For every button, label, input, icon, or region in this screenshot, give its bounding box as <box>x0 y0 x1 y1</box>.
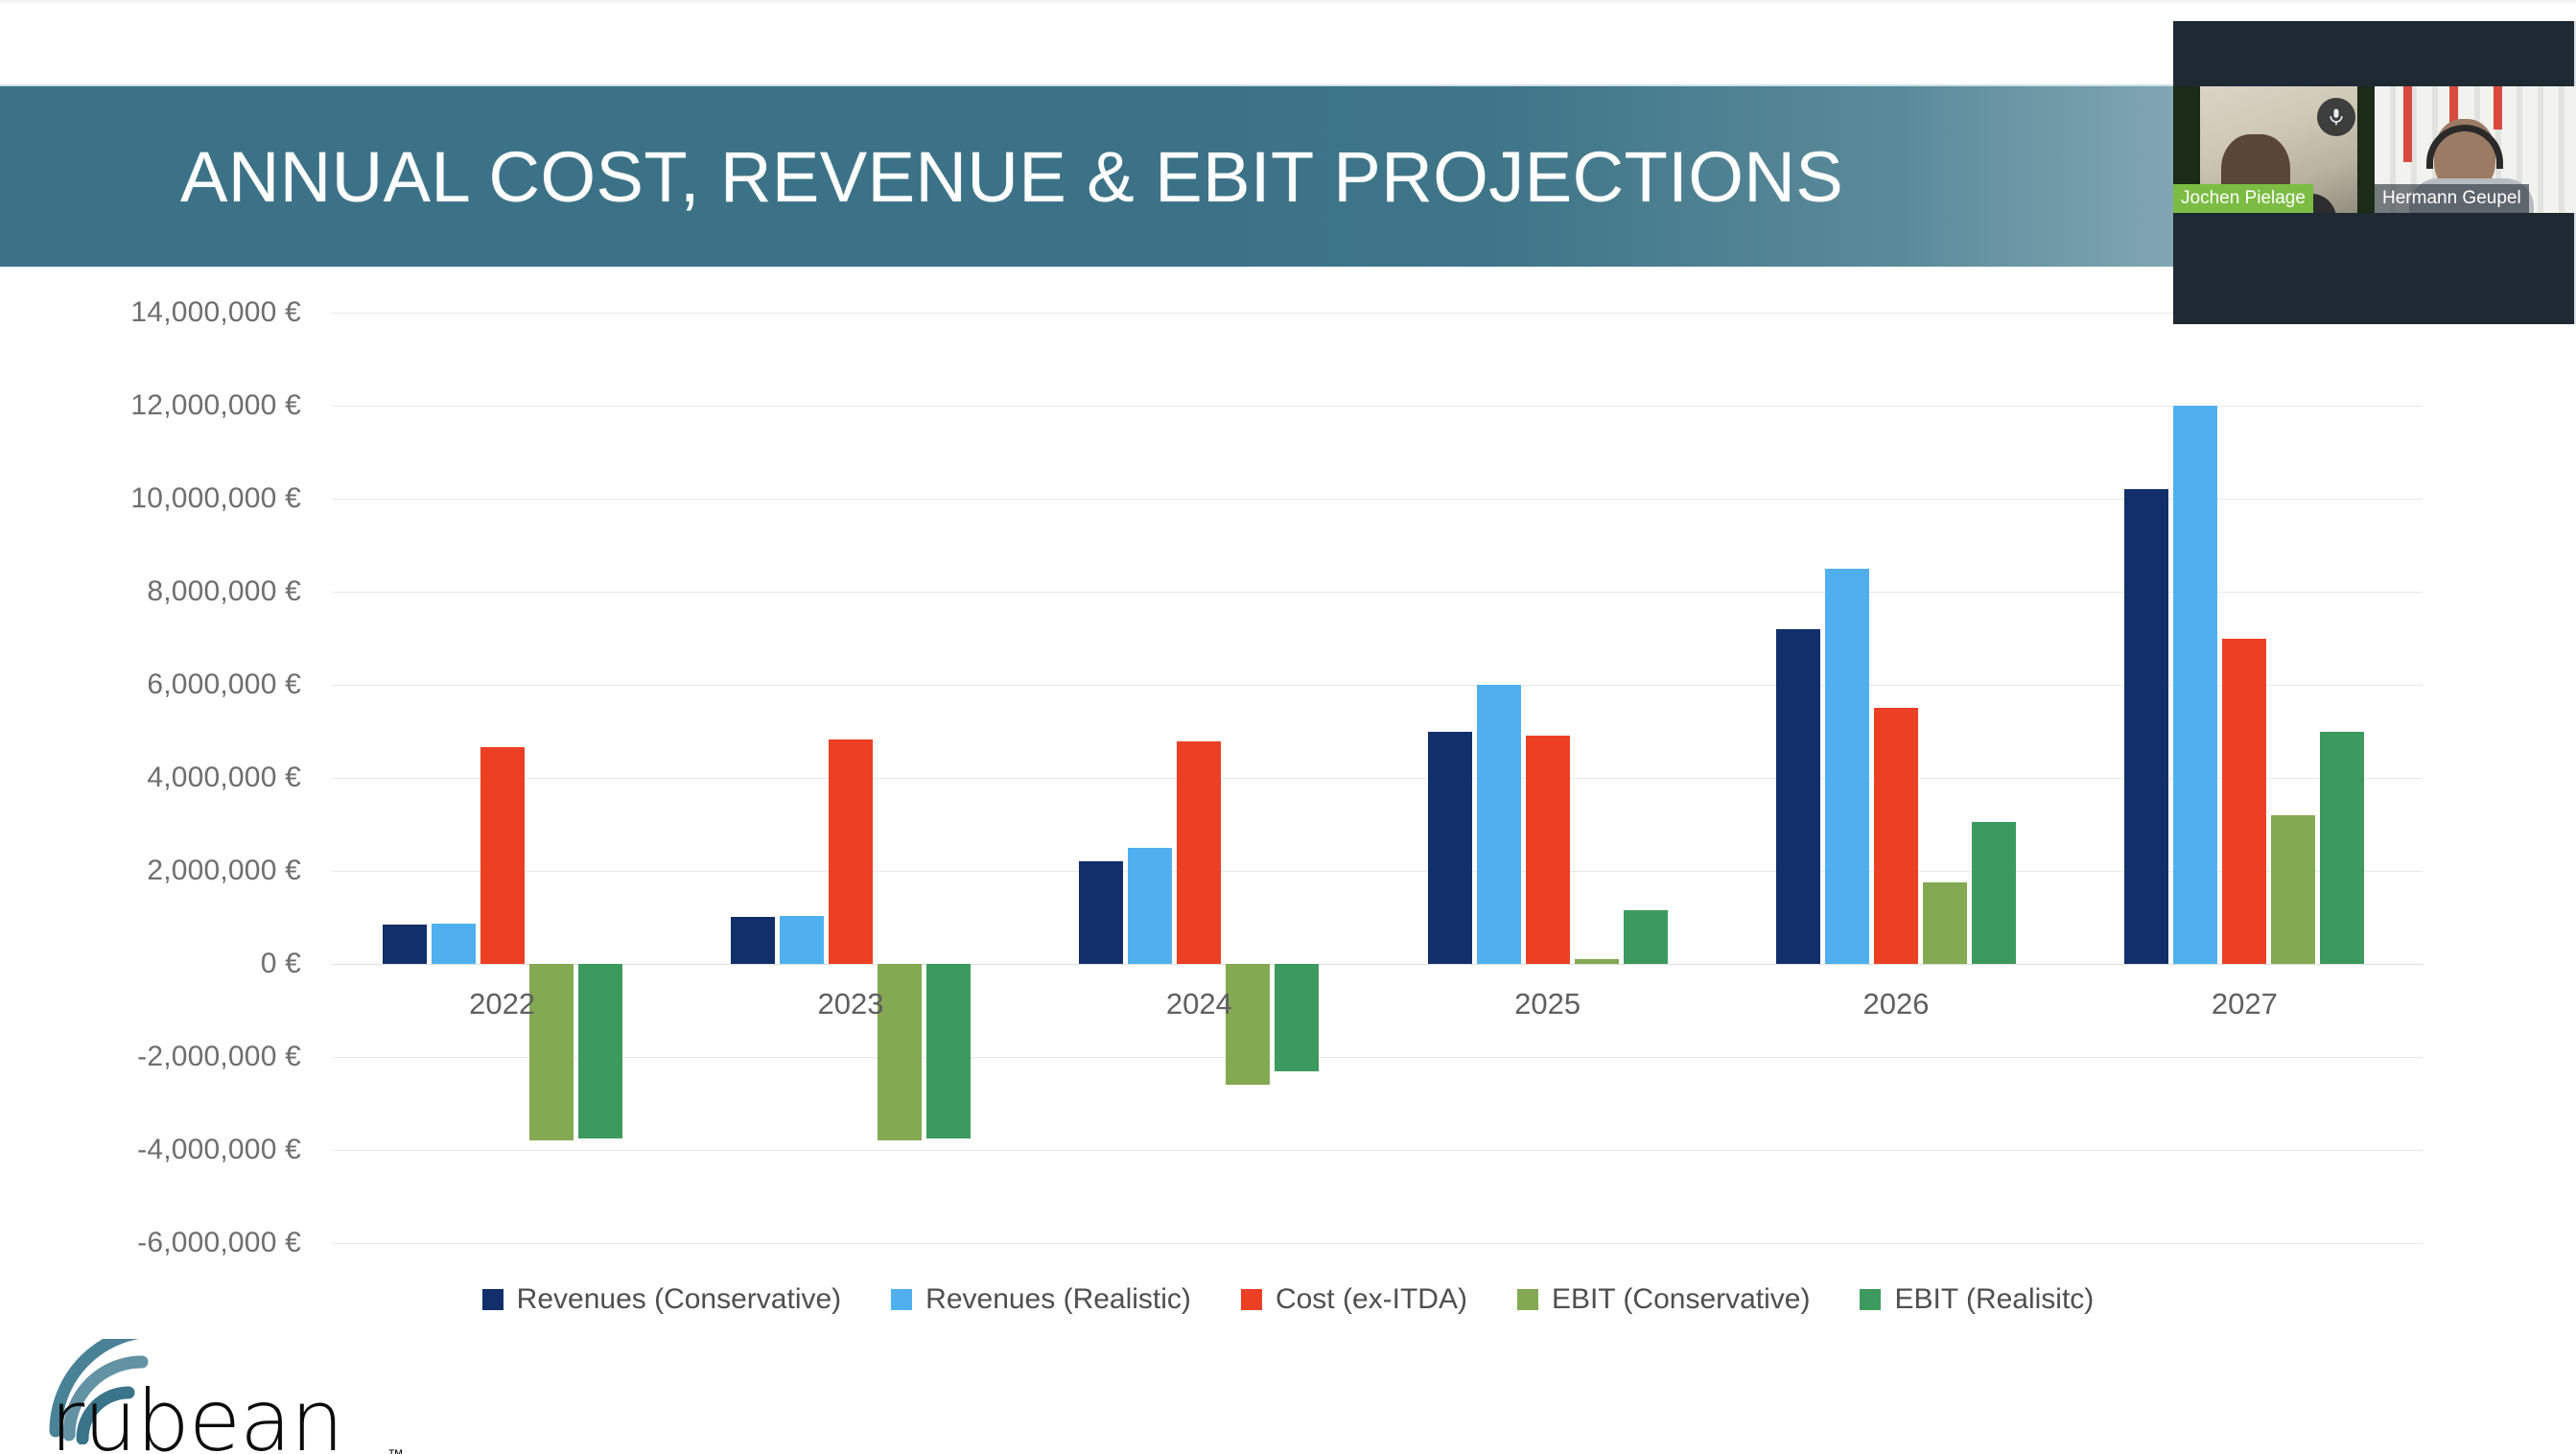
chart-bar <box>1477 685 1521 964</box>
chart-bar <box>780 916 824 964</box>
microphone-icon[interactable] <box>2317 98 2355 136</box>
chart-bar <box>1972 822 2016 964</box>
y-axis-tick-label: 0 € <box>261 948 301 980</box>
chart-bar <box>1776 629 1820 964</box>
chart-bar <box>2173 406 2217 964</box>
chart-bar <box>1428 732 1472 965</box>
participant-name-tag: Hermann Geupel <box>2375 184 2529 213</box>
chart-plot-area: 202220232024202520262027 <box>332 267 2423 1283</box>
x-axis-tick-label: 2025 <box>1514 987 1581 1021</box>
chart-bar <box>1226 964 1270 1085</box>
chart-bar <box>1177 741 1221 964</box>
legend-label: Revenues (Conservative) <box>517 1283 841 1316</box>
x-axis-tick-label: 2024 <box>1166 987 1232 1021</box>
legend-label: Cost (ex-ITDA) <box>1276 1283 1467 1316</box>
y-axis-tick-label: 12,000,000 € <box>130 389 301 422</box>
chart-bar <box>878 964 922 1140</box>
logo-wordmark: rubean <box>50 1379 343 1454</box>
y-axis-tick-label: 4,000,000 € <box>147 762 301 794</box>
video-conference-panel: Jochen Pielage Hermann Geupel <box>2173 21 2576 324</box>
x-axis-tick-label: 2026 <box>1863 987 1930 1021</box>
chart-bar <box>1575 959 1619 964</box>
chart-bar <box>731 917 775 964</box>
legend-label: Revenues (Realistic) <box>925 1283 1191 1316</box>
x-axis-tick-label: 2022 <box>469 987 535 1021</box>
y-axis-tick-label: 2,000,000 € <box>147 855 301 887</box>
chart-bar <box>432 924 476 964</box>
x-axis-tick-label: 2027 <box>2212 987 2278 1021</box>
chart-bar <box>1923 882 1967 964</box>
legend-item[interactable]: Revenues (Conservative) <box>482 1283 841 1316</box>
chart-bar <box>1526 736 1570 964</box>
chart-bar <box>529 964 574 1140</box>
y-axis-labels: 14,000,000 €12,000,000 €10,000,000 €8,00… <box>0 267 316 1283</box>
chart-bar <box>1079 861 1123 964</box>
chart-bars-layer <box>332 267 2423 1283</box>
y-axis-tick-label: 10,000,000 € <box>130 482 301 515</box>
presentation-slide: ANNUAL COST, REVENUE & EBIT PROJECTIONS … <box>0 0 2576 1454</box>
chart-bar <box>1874 708 1918 964</box>
rubean-logo: rubean ™ <box>21 1339 424 1454</box>
legend-swatch-icon <box>1860 1289 1881 1310</box>
legend-item[interactable]: EBIT (Conservative) <box>1517 1283 1811 1316</box>
legend-swatch-icon <box>1241 1289 1262 1310</box>
legend-item[interactable]: Revenues (Realistic) <box>891 1283 1191 1316</box>
chart-bar <box>2222 639 2266 965</box>
chart-bar <box>829 739 873 964</box>
x-axis-tick-label: 2023 <box>818 987 884 1021</box>
y-axis-tick-label: 14,000,000 € <box>130 296 301 329</box>
legend-swatch-icon <box>1517 1289 1538 1310</box>
chart-bar <box>926 964 971 1138</box>
chart-bar <box>1624 910 1668 964</box>
slide-footer: rubean ™ © 2024 Rubean AG – confidential… <box>0 1333 2576 1454</box>
background-stripe <box>2494 86 2502 129</box>
video-tiles: Jochen Pielage Hermann Geupel <box>2173 86 2576 213</box>
legend-swatch-icon <box>891 1289 912 1310</box>
video-tile-hermann-geupel[interactable]: Hermann Geupel <box>2375 86 2576 213</box>
legend-item[interactable]: EBIT (Realisitc) <box>1860 1283 2094 1316</box>
video-tile-jochen-pielage[interactable]: Jochen Pielage <box>2173 86 2375 213</box>
chart-bar <box>1128 848 1172 964</box>
participant-name-tag: Jochen Pielage <box>2173 184 2313 213</box>
background-stripe <box>2403 86 2412 162</box>
logo-trademark: ™ <box>387 1446 404 1454</box>
legend-label: EBIT (Realisitc) <box>1894 1283 2094 1316</box>
top-hairline <box>0 0 2576 3</box>
chart-bar <box>1275 964 1319 1071</box>
chart-bar <box>383 925 427 964</box>
y-axis-tick-label: -4,000,000 € <box>137 1134 301 1166</box>
chart-bar <box>2320 732 2364 965</box>
chart-bar <box>480 747 525 964</box>
y-axis-tick-label: -2,000,000 € <box>137 1041 301 1073</box>
chart-bar <box>578 964 622 1138</box>
y-axis-tick-label: 6,000,000 € <box>147 668 301 701</box>
chart-bar <box>2271 815 2315 964</box>
chart-legend: Revenues (Conservative)Revenues (Realist… <box>0 1283 2576 1316</box>
y-axis-tick-label: -6,000,000 € <box>137 1227 301 1259</box>
y-axis-tick-label: 8,000,000 € <box>147 575 301 608</box>
legend-label: EBIT (Conservative) <box>1552 1283 1811 1316</box>
chart-bar <box>1825 569 1869 964</box>
chart-bar <box>2124 489 2168 964</box>
legend-item[interactable]: Cost (ex-ITDA) <box>1241 1283 1467 1316</box>
legend-swatch-icon <box>482 1289 503 1310</box>
video-pillarbox-right <box>2357 86 2375 213</box>
chart-container: 14,000,000 €12,000,000 €10,000,000 €8,00… <box>0 267 2576 1283</box>
page-title: ANNUAL COST, REVENUE & EBIT PROJECTIONS <box>180 136 1843 218</box>
